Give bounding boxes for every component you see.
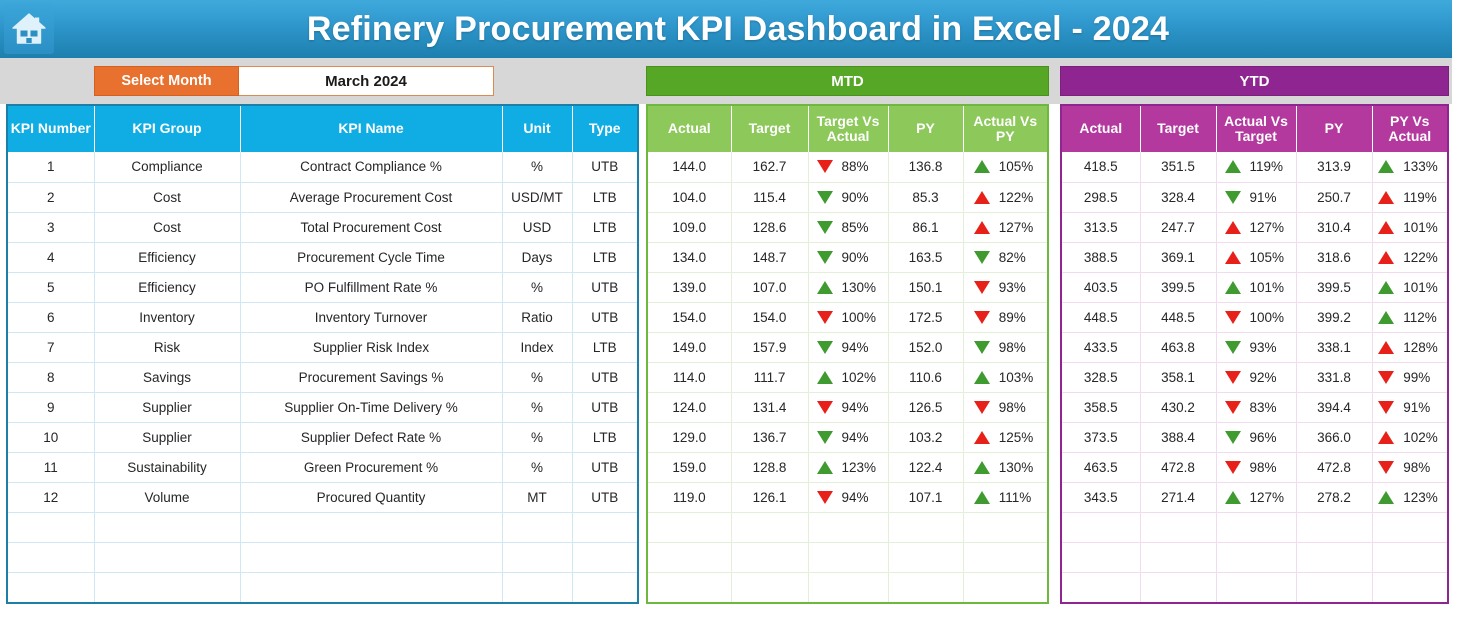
cell-ytd-actual: 328.5	[1062, 362, 1140, 392]
arrow-up-icon	[974, 461, 990, 474]
cell-ytd-py-vs-actual: 112%	[1372, 302, 1447, 332]
cell-type: UTB	[572, 272, 637, 302]
cell-ytd-actual-vs-target: 91%	[1216, 182, 1296, 212]
cell-kpi-name: Contract Compliance %	[240, 152, 502, 182]
delta-percent: 98%	[999, 340, 1037, 355]
ytd-body: 418.5351.5119%313.9133%298.5328.491%250.…	[1062, 152, 1447, 602]
cell-ytd-py-vs-actual	[1372, 542, 1447, 572]
arrow-down-icon	[974, 251, 990, 264]
table-row[interactable]: 433.5463.893%338.1128%	[1062, 332, 1447, 362]
cell-mtd-actual-vs-py: 122%	[963, 182, 1047, 212]
arrow-down-icon	[1225, 191, 1241, 204]
cell-mtd-py: 126.5	[888, 392, 963, 422]
cell-ytd-actual	[1062, 512, 1140, 542]
table-row[interactable]: 9SupplierSupplier On-Time Delivery %%UTB	[8, 392, 637, 422]
table-row[interactable]: 109.0128.685%86.1127%	[648, 212, 1047, 242]
arrow-down-icon	[817, 160, 833, 173]
cell-ytd-actual	[1062, 572, 1140, 602]
cell-mtd-actual: 114.0	[648, 362, 731, 392]
arrow-up-icon	[1378, 251, 1394, 264]
arrow-up-icon	[1225, 160, 1241, 173]
cell-ytd-actual: 403.5	[1062, 272, 1140, 302]
cell-ytd-py: 250.7	[1296, 182, 1372, 212]
table-row[interactable]: 104.0115.490%85.3122%	[648, 182, 1047, 212]
delta-percent: 99%	[1403, 370, 1441, 385]
table-row[interactable]: 373.5388.496%366.0102%	[1062, 422, 1447, 452]
arrow-up-icon	[974, 221, 990, 234]
ytd-header-row: ActualTargetActual Vs TargetPYPY Vs Actu…	[1062, 106, 1447, 152]
table-row[interactable]: 343.5271.4127%278.2123%	[1062, 482, 1447, 512]
arrow-down-icon	[1225, 371, 1241, 384]
table-row[interactable]: 144.0162.788%136.8105%	[648, 152, 1047, 182]
cell-kpi-name: Supplier Defect Rate %	[240, 422, 502, 452]
cell-mtd-py	[888, 572, 963, 602]
table-row[interactable]: 6InventoryInventory TurnoverRatioUTB	[8, 302, 637, 332]
cell-ytd-py: 394.4	[1296, 392, 1372, 422]
cell-kpi-name: Supplier Risk Index	[240, 332, 502, 362]
cell-ytd-py-vs-actual: 119%	[1372, 182, 1447, 212]
cell-kpi-group: Savings	[94, 362, 240, 392]
cell-ytd-py: 366.0	[1296, 422, 1372, 452]
table-row[interactable]: 119.0126.194%107.1111%	[648, 482, 1047, 512]
cell-mtd-actual-vs-py: 82%	[963, 242, 1047, 272]
arrow-up-icon	[1225, 221, 1241, 234]
arrow-down-icon	[974, 311, 990, 324]
cell-unit: %	[502, 452, 572, 482]
cell-kpi-group	[94, 542, 240, 572]
ytd-col-py[interactable]: PY	[1296, 106, 1372, 152]
arrow-up-icon	[1378, 191, 1394, 204]
table-row[interactable]	[648, 572, 1047, 602]
cell-mtd-target-vs-actual: 85%	[808, 212, 888, 242]
cell-kpi-name: Procurement Savings %	[240, 362, 502, 392]
arrow-up-icon	[1378, 431, 1394, 444]
cell-ytd-py: 310.4	[1296, 212, 1372, 242]
cell-ytd-py: 313.9	[1296, 152, 1372, 182]
table-row[interactable]: 124.0131.494%126.598%	[648, 392, 1047, 422]
cell-kpi-number: 7	[8, 332, 94, 362]
cell-ytd-actual-vs-target: 92%	[1216, 362, 1296, 392]
cell-unit: %	[502, 362, 572, 392]
cell-kpi-name: Total Procurement Cost	[240, 212, 502, 242]
cell-type: LTB	[572, 212, 637, 242]
cell-mtd-target-vs-actual: 90%	[808, 242, 888, 272]
arrow-down-icon	[1225, 311, 1241, 324]
cell-unit	[502, 542, 572, 572]
table-row[interactable]: 8SavingsProcurement Savings %%UTB	[8, 362, 637, 392]
cell-kpi-name: PO Fulfillment Rate %	[240, 272, 502, 302]
delta-percent: 93%	[1250, 340, 1288, 355]
left-col-type[interactable]: Type	[572, 106, 637, 152]
home-button[interactable]	[4, 4, 54, 54]
cell-unit: %	[502, 422, 572, 452]
cell-ytd-actual	[1062, 542, 1140, 572]
cell-mtd-py	[888, 512, 963, 542]
table-row[interactable]	[648, 512, 1047, 542]
table-row[interactable]: 5EfficiencyPO Fulfillment Rate %%UTB	[8, 272, 637, 302]
cell-ytd-py-vs-actual	[1372, 572, 1447, 602]
cell-kpi-group	[94, 512, 240, 542]
cell-unit: USD/MT	[502, 182, 572, 212]
cell-mtd-target: 154.0	[731, 302, 808, 332]
cell-kpi-group: Volume	[94, 482, 240, 512]
cell-mtd-actual: 134.0	[648, 242, 731, 272]
select-month-label: Select Month	[94, 66, 239, 96]
delta-percent: 82%	[999, 250, 1037, 265]
cell-kpi-group: Sustainability	[94, 452, 240, 482]
cell-mtd-actual: 104.0	[648, 182, 731, 212]
cell-kpi-number: 3	[8, 212, 94, 242]
cell-kpi-number: 11	[8, 452, 94, 482]
cell-mtd-target-vs-actual: 88%	[808, 152, 888, 182]
cell-kpi-number: 10	[8, 422, 94, 452]
cell-ytd-actual-vs-target: 83%	[1216, 392, 1296, 422]
cell-kpi-number: 12	[8, 482, 94, 512]
delta-percent: 111%	[999, 490, 1037, 505]
arrow-down-icon	[974, 281, 990, 294]
cell-ytd-actual: 373.5	[1062, 422, 1140, 452]
cell-kpi-number: 9	[8, 392, 94, 422]
cell-ytd-target: 351.5	[1140, 152, 1216, 182]
cell-mtd-actual-vs-py: 89%	[963, 302, 1047, 332]
cell-ytd-target: 472.8	[1140, 452, 1216, 482]
arrow-up-icon	[1378, 160, 1394, 173]
table-row[interactable]	[1062, 572, 1447, 602]
table-row[interactable]: 159.0128.8123%122.4130%	[648, 452, 1047, 482]
cell-mtd-actual: 129.0	[648, 422, 731, 452]
cell-mtd-target: 148.7	[731, 242, 808, 272]
delta-percent: 127%	[1250, 220, 1288, 235]
cell-mtd-target: 126.1	[731, 482, 808, 512]
delta-percent: 94%	[842, 400, 880, 415]
table-row[interactable]: 12VolumeProcured QuantityMTUTB	[8, 482, 637, 512]
table-row[interactable]: 463.5472.898%472.898%	[1062, 452, 1447, 482]
mtd-header-row: ActualTargetTarget Vs ActualPYActual Vs …	[648, 106, 1047, 152]
ytd-col-actual[interactable]: Actual	[1062, 106, 1140, 152]
cell-ytd-py-vs-actual: 101%	[1372, 212, 1447, 242]
delta-percent: 88%	[842, 159, 880, 174]
table-row[interactable]: 313.5247.7127%310.4101%	[1062, 212, 1447, 242]
cell-ytd-py-vs-actual: 91%	[1372, 392, 1447, 422]
cell-ytd-actual-vs-target: 127%	[1216, 212, 1296, 242]
table-row[interactable]: 139.0107.0130%150.193%	[648, 272, 1047, 302]
cell-ytd-actual-vs-target: 127%	[1216, 482, 1296, 512]
cell-ytd-py-vs-actual: 101%	[1372, 272, 1447, 302]
cell-ytd-py: 278.2	[1296, 482, 1372, 512]
cell-ytd-target: 448.5	[1140, 302, 1216, 332]
cell-ytd-actual-vs-target	[1216, 512, 1296, 542]
delta-percent: 103%	[999, 370, 1037, 385]
table-row[interactable]: 418.5351.5119%313.9133%	[1062, 152, 1447, 182]
cell-kpi-group: Supplier	[94, 392, 240, 422]
cell-kpi-name	[240, 542, 502, 572]
delta-percent: 91%	[1250, 190, 1288, 205]
kpi-definition-body: 1ComplianceContract Compliance %%UTB2Cos…	[8, 152, 637, 602]
cell-mtd-target	[731, 512, 808, 542]
cell-unit	[502, 572, 572, 602]
table-row[interactable]: 134.0148.790%163.582%	[648, 242, 1047, 272]
cell-mtd-target: 131.4	[731, 392, 808, 422]
table-row[interactable]	[1062, 542, 1447, 572]
cell-type: UTB	[572, 362, 637, 392]
ytd-table: ActualTargetActual Vs TargetPYPY Vs Actu…	[1062, 106, 1447, 602]
cell-kpi-group: Cost	[94, 212, 240, 242]
cell-ytd-target: 358.1	[1140, 362, 1216, 392]
cell-kpi-name: Average Procurement Cost	[240, 182, 502, 212]
cell-ytd-actual: 358.5	[1062, 392, 1140, 422]
arrow-up-icon	[817, 461, 833, 474]
cell-type: LTB	[572, 182, 637, 212]
table-row[interactable]	[648, 542, 1047, 572]
delta-percent: 119%	[1403, 190, 1441, 205]
delta-percent: 133%	[1403, 159, 1441, 174]
ytd-col-py-vs-actual[interactable]: PY Vs Actual	[1372, 106, 1447, 152]
cell-mtd-target-vs-actual: 100%	[808, 302, 888, 332]
cell-mtd-actual-vs-py: 105%	[963, 152, 1047, 182]
table-row[interactable]: 403.5399.5101%399.5101%	[1062, 272, 1447, 302]
cell-mtd-target: 128.6	[731, 212, 808, 242]
selected-month-value[interactable]: March 2024	[239, 66, 494, 96]
delta-percent: 94%	[842, 340, 880, 355]
delta-percent: 92%	[1250, 370, 1288, 385]
table-row[interactable]: 1ComplianceContract Compliance %%UTB	[8, 152, 637, 182]
delta-percent: 122%	[1403, 250, 1441, 265]
table-row[interactable]: 388.5369.1105%318.6122%	[1062, 242, 1447, 272]
delta-percent: 83%	[1250, 400, 1288, 415]
arrow-up-icon	[974, 371, 990, 384]
arrow-down-icon	[817, 191, 833, 204]
cell-mtd-actual-vs-py: 130%	[963, 452, 1047, 482]
cell-ytd-py	[1296, 542, 1372, 572]
cell-kpi-name: Procured Quantity	[240, 482, 502, 512]
cell-type	[572, 572, 637, 602]
cell-unit: USD	[502, 212, 572, 242]
delta-percent: 100%	[1250, 310, 1288, 325]
cell-mtd-target-vs-actual: 94%	[808, 482, 888, 512]
cell-ytd-py: 399.2	[1296, 302, 1372, 332]
delta-percent: 105%	[1250, 250, 1288, 265]
delta-percent: 98%	[1403, 460, 1441, 475]
cell-mtd-target-vs-actual: 94%	[808, 422, 888, 452]
left-col-kpi-name[interactable]: KPI Name	[240, 106, 502, 152]
title-bar: Refinery Procurement KPI Dashboard in Ex…	[0, 0, 1452, 59]
right-margin	[1452, 0, 1467, 618]
arrow-down-icon	[1225, 431, 1241, 444]
arrow-down-icon	[1225, 341, 1241, 354]
cell-mtd-target: 111.7	[731, 362, 808, 392]
cell-kpi-number: 4	[8, 242, 94, 272]
cell-ytd-actual-vs-target: 93%	[1216, 332, 1296, 362]
cell-kpi-name	[240, 512, 502, 542]
cell-ytd-py-vs-actual: 128%	[1372, 332, 1447, 362]
cell-ytd-py	[1296, 512, 1372, 542]
cell-mtd-actual: 124.0	[648, 392, 731, 422]
arrow-up-icon	[1378, 281, 1394, 294]
cell-ytd-actual-vs-target: 101%	[1216, 272, 1296, 302]
table-row[interactable]: 298.5328.491%250.7119%	[1062, 182, 1447, 212]
cell-mtd-actual: 109.0	[648, 212, 731, 242]
cell-kpi-group: Inventory	[94, 302, 240, 332]
cell-ytd-actual-vs-target: 105%	[1216, 242, 1296, 272]
table-row[interactable]: 10SupplierSupplier Defect Rate %%LTB	[8, 422, 637, 452]
ytd-banner: YTD	[1060, 66, 1449, 96]
delta-percent: 101%	[1250, 280, 1288, 295]
delta-percent: 122%	[999, 190, 1037, 205]
delta-percent: 98%	[1250, 460, 1288, 475]
table-row[interactable]: 154.0154.0100%172.589%	[648, 302, 1047, 332]
arrow-down-icon	[1378, 401, 1394, 414]
cell-type	[572, 542, 637, 572]
arrow-down-icon	[817, 221, 833, 234]
cell-kpi-number: 8	[8, 362, 94, 392]
cell-ytd-py-vs-actual: 133%	[1372, 152, 1447, 182]
cell-kpi-name: Green Procurement %	[240, 452, 502, 482]
mtd-col-py[interactable]: PY	[888, 106, 963, 152]
delta-percent: 119%	[1250, 159, 1288, 174]
table-row[interactable]: 149.0157.994%152.098%	[648, 332, 1047, 362]
delta-percent: 128%	[1403, 340, 1441, 355]
cell-kpi-number: 2	[8, 182, 94, 212]
arrow-down-icon	[1225, 461, 1241, 474]
cell-mtd-actual-vs-py: 127%	[963, 212, 1047, 242]
cell-ytd-py-vs-actual: 98%	[1372, 452, 1447, 482]
table-row[interactable]: 3CostTotal Procurement CostUSDLTB	[8, 212, 637, 242]
table-row[interactable]: 2CostAverage Procurement CostUSD/MTLTB	[8, 182, 637, 212]
cell-type: UTB	[572, 392, 637, 422]
dashboard-root: Refinery Procurement KPI Dashboard in Ex…	[0, 0, 1467, 618]
cell-mtd-py: 136.8	[888, 152, 963, 182]
cell-mtd-target-vs-actual: 130%	[808, 272, 888, 302]
cell-mtd-py: 172.5	[888, 302, 963, 332]
cell-ytd-target: 388.4	[1140, 422, 1216, 452]
cell-type: UTB	[572, 302, 637, 332]
cell-ytd-py-vs-actual: 122%	[1372, 242, 1447, 272]
cell-mtd-py: 110.6	[888, 362, 963, 392]
table-row[interactable]: 129.0136.794%103.2125%	[648, 422, 1047, 452]
arrow-down-icon	[1225, 401, 1241, 414]
arrow-up-icon	[974, 160, 990, 173]
ytd-block: ActualTargetActual Vs TargetPYPY Vs Actu…	[1060, 104, 1449, 604]
delta-percent: 127%	[1250, 490, 1288, 505]
cell-mtd-actual-vs-py	[963, 512, 1047, 542]
cell-ytd-py: 399.5	[1296, 272, 1372, 302]
month-selector[interactable]: Select Month March 2024	[94, 66, 494, 96]
cell-mtd-actual-vs-py: 103%	[963, 362, 1047, 392]
cell-mtd-target-vs-actual: 102%	[808, 362, 888, 392]
cell-mtd-target: 115.4	[731, 182, 808, 212]
table-row[interactable]	[8, 542, 637, 572]
cell-ytd-py: 331.8	[1296, 362, 1372, 392]
mtd-col-target-vs-actual[interactable]: Target Vs Actual	[808, 106, 888, 152]
table-row[interactable]: 328.5358.192%331.899%	[1062, 362, 1447, 392]
left-col-kpi-number[interactable]: KPI Number	[8, 106, 94, 152]
cell-mtd-target	[731, 542, 808, 572]
cell-type: UTB	[572, 482, 637, 512]
cell-ytd-target: 399.5	[1140, 272, 1216, 302]
cell-type: LTB	[572, 242, 637, 272]
table-row[interactable]: 11SustainabilityGreen Procurement %%UTB	[8, 452, 637, 482]
table-row[interactable]: 358.5430.283%394.491%	[1062, 392, 1447, 422]
cell-ytd-actual: 418.5	[1062, 152, 1140, 182]
left-col-kpi-group[interactable]: KPI Group	[94, 106, 240, 152]
cell-kpi-number: 6	[8, 302, 94, 332]
cell-ytd-actual: 343.5	[1062, 482, 1140, 512]
cell-ytd-py-vs-actual: 102%	[1372, 422, 1447, 452]
cell-mtd-py: 107.1	[888, 482, 963, 512]
mtd-col-target[interactable]: Target	[731, 106, 808, 152]
cell-ytd-actual: 313.5	[1062, 212, 1140, 242]
table-row[interactable]: 448.5448.5100%399.2112%	[1062, 302, 1447, 332]
cell-mtd-actual	[648, 572, 731, 602]
delta-percent: 89%	[999, 310, 1037, 325]
cell-mtd-actual-vs-py	[963, 572, 1047, 602]
arrow-up-icon	[1225, 491, 1241, 504]
dashboard-title: Refinery Procurement KPI Dashboard in Ex…	[54, 10, 1452, 49]
cell-mtd-actual-vs-py: 93%	[963, 272, 1047, 302]
cell-mtd-py: 122.4	[888, 452, 963, 482]
cell-kpi-number	[8, 542, 94, 572]
cell-type: LTB	[572, 422, 637, 452]
cell-mtd-actual-vs-py: 111%	[963, 482, 1047, 512]
left-col-unit[interactable]: Unit	[502, 106, 572, 152]
cell-mtd-actual-vs-py: 98%	[963, 332, 1047, 362]
cell-type: UTB	[572, 452, 637, 482]
delta-percent: 85%	[842, 220, 880, 235]
cell-kpi-group: Efficiency	[94, 242, 240, 272]
table-row[interactable]	[8, 572, 637, 602]
table-row[interactable]: 114.0111.7102%110.6103%	[648, 362, 1047, 392]
cell-mtd-target-vs-actual: 123%	[808, 452, 888, 482]
cell-mtd-actual: 144.0	[648, 152, 731, 182]
cell-mtd-actual-vs-py: 125%	[963, 422, 1047, 452]
delta-percent: 101%	[1403, 220, 1441, 235]
cell-mtd-actual: 154.0	[648, 302, 731, 332]
cell-mtd-target: 136.7	[731, 422, 808, 452]
delta-percent: 94%	[842, 490, 880, 505]
delta-percent: 90%	[842, 250, 880, 265]
table-row[interactable]	[8, 512, 637, 542]
cell-ytd-actual-vs-target	[1216, 542, 1296, 572]
cell-mtd-actual: 149.0	[648, 332, 731, 362]
cell-kpi-name: Inventory Turnover	[240, 302, 502, 332]
delta-percent: 130%	[842, 280, 880, 295]
cell-ytd-actual: 448.5	[1062, 302, 1140, 332]
table-row[interactable]	[1062, 512, 1447, 542]
mtd-banner: MTD	[646, 66, 1049, 96]
table-row[interactable]: 7RiskSupplier Risk IndexIndexLTB	[8, 332, 637, 362]
cell-kpi-name: Procurement Cycle Time	[240, 242, 502, 272]
cell-type: LTB	[572, 332, 637, 362]
cell-kpi-name	[240, 572, 502, 602]
mtd-col-actual-vs-py[interactable]: Actual Vs PY	[963, 106, 1047, 152]
cell-mtd-actual-vs-py: 98%	[963, 392, 1047, 422]
cell-ytd-py-vs-actual: 123%	[1372, 482, 1447, 512]
cell-ytd-py-vs-actual	[1372, 512, 1447, 542]
table-row[interactable]: 4EfficiencyProcurement Cycle TimeDaysLTB	[8, 242, 637, 272]
cell-ytd-target: 328.4	[1140, 182, 1216, 212]
mtd-col-actual[interactable]: Actual	[648, 106, 731, 152]
arrow-up-icon	[817, 371, 833, 384]
cell-mtd-py: 103.2	[888, 422, 963, 452]
cell-mtd-actual	[648, 512, 731, 542]
ytd-col-actual-vs-target[interactable]: Actual Vs Target	[1216, 106, 1296, 152]
arrow-up-icon	[1378, 221, 1394, 234]
ytd-col-target[interactable]: Target	[1140, 106, 1216, 152]
delta-percent: 100%	[842, 310, 880, 325]
cell-mtd-actual-vs-py	[963, 542, 1047, 572]
cell-kpi-number	[8, 572, 94, 602]
arrow-down-icon	[1378, 461, 1394, 474]
